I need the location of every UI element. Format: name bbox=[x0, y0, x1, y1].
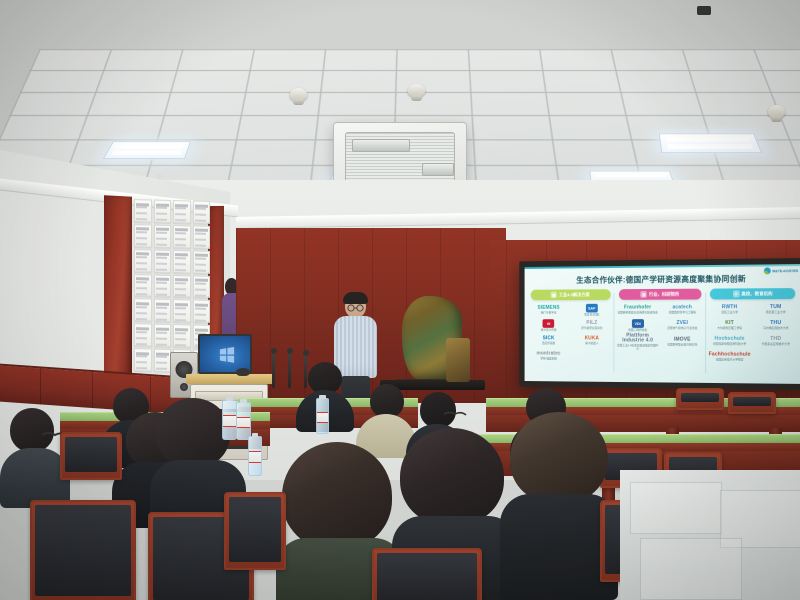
posted-document bbox=[154, 274, 172, 297]
partner-logo: ZVEI德国电气和电子行业协会 bbox=[661, 318, 704, 333]
camera-mount bbox=[697, 6, 711, 15]
column-header-label: 高校、教育机构 bbox=[741, 291, 772, 297]
partner-logo: SAP思爱普(德国) bbox=[571, 303, 613, 318]
head bbox=[282, 442, 392, 550]
factory-icon: ▦ bbox=[551, 292, 557, 299]
column-header-label: 行业、科研院所 bbox=[649, 291, 679, 297]
column-header-research: ▥行业、科研院所 bbox=[619, 289, 701, 300]
posted-document bbox=[173, 275, 191, 298]
head bbox=[370, 384, 404, 418]
posted-document bbox=[193, 275, 211, 298]
surveillance-camera-icon bbox=[672, 8, 698, 30]
water-bottle[interactable] bbox=[222, 400, 237, 440]
microphone[interactable] bbox=[272, 352, 275, 388]
bottle-label bbox=[249, 451, 261, 463]
partner-logo: RWTH亚琛工业大学 bbox=[708, 302, 752, 317]
logo-grid: SIEMENS西门子数字化SAP思爱普(德国)W威卡压力传感PILZ皮尔兹安全自… bbox=[528, 303, 613, 364]
posted-document bbox=[154, 324, 172, 347]
partner-logo-caption: 德国工业4.0标准化推进组织管理中心 bbox=[616, 345, 658, 351]
head bbox=[400, 428, 504, 526]
posted-document bbox=[173, 225, 191, 248]
posted-document bbox=[154, 299, 172, 322]
fluorescent-panel-light bbox=[103, 142, 191, 159]
chair[interactable] bbox=[60, 432, 122, 476]
partner-logo: SICK西克传感器 bbox=[528, 334, 569, 348]
water-bottle[interactable] bbox=[248, 436, 262, 476]
presentation-slide: M&TE-KOSTER 生态合作伙伴:德国产学研资源高度聚集协同创新 ▦工业4.… bbox=[525, 264, 800, 384]
floor bbox=[620, 470, 800, 600]
water-bottle[interactable] bbox=[316, 398, 329, 434]
partner-logo-caption: 思爱普(德国) bbox=[584, 313, 599, 316]
partner-logo-name: Plattform Industrie 4.0 bbox=[616, 334, 658, 344]
posted-document bbox=[134, 323, 152, 346]
head bbox=[156, 398, 230, 468]
posted-document bbox=[193, 300, 211, 323]
partner-logo-caption: 德国工程师协会 bbox=[628, 329, 647, 332]
logo-grid: Fraunhofer德国弗劳恩霍夫应用研究促进协会acatech德国国家科学与工… bbox=[616, 302, 703, 351]
bottle-cap bbox=[252, 433, 259, 437]
slide-column-research: ▥行业、科研院所Fraunhofer德国弗劳恩霍夫应用研究促进协会acatech… bbox=[616, 289, 703, 377]
chair[interactable] bbox=[676, 388, 724, 406]
chair[interactable] bbox=[30, 500, 136, 600]
partner-logo-caption: 德国电气和电子行业协会 bbox=[667, 327, 697, 330]
computer-mouse bbox=[236, 368, 250, 376]
institute-icon: ▥ bbox=[641, 291, 648, 298]
posted-document bbox=[134, 274, 152, 297]
glasses-icon bbox=[345, 304, 366, 312]
posted-document bbox=[154, 349, 172, 372]
presenter-hair bbox=[343, 292, 368, 304]
smoke-detector-icon bbox=[408, 84, 425, 97]
column-header-label: 工业4.0解决方案 bbox=[559, 292, 590, 298]
posted-document bbox=[134, 224, 152, 247]
chair[interactable] bbox=[372, 548, 482, 600]
partner-logo: TUM慕尼黑工业大学 bbox=[754, 302, 799, 317]
partner-logo-caption: 库卡机器人 bbox=[585, 342, 598, 345]
cabinet-top bbox=[186, 374, 274, 384]
partner-logo-badge: SAP bbox=[586, 304, 598, 313]
posted-document bbox=[173, 200, 191, 223]
decorative-vase bbox=[446, 338, 470, 382]
partner-logo: IMOVE德国联邦职业教育研究所 bbox=[661, 334, 704, 351]
partner-logo: W威卡压力传感 bbox=[528, 318, 569, 332]
bottle-label bbox=[223, 415, 236, 427]
posted-document bbox=[134, 298, 152, 321]
posted-document bbox=[173, 324, 191, 347]
partner-logo: KIT卡尔斯鲁厄理工学院 bbox=[708, 318, 752, 333]
slide-accent-bar bbox=[525, 264, 800, 269]
partner-logo-badge: VDI bbox=[632, 319, 644, 328]
partner-logo-caption: 亚琛工业大学 bbox=[721, 311, 738, 314]
posted-document bbox=[134, 199, 152, 222]
partner-logo-caption: 德国弗劳恩霍夫应用研究促进协会 bbox=[618, 311, 658, 314]
partner-logo: PILZ皮尔兹安全自动化 bbox=[571, 318, 613, 332]
partner-logo: VDI德国工程师协会 bbox=[616, 318, 658, 333]
partner-logo: acatech德国国家科学与工程院 bbox=[661, 302, 704, 317]
partner-logo: Hochschule德国埃斯林根应用科技大学 bbox=[708, 334, 752, 349]
posted-document bbox=[173, 299, 191, 322]
column-divider bbox=[614, 293, 615, 372]
partner-logo-caption: 德国埃斯林根应用科技大学 bbox=[713, 343, 746, 346]
partner-logo: Fachhochschule德国应用技术大学联盟 bbox=[708, 350, 752, 365]
bottle-cap bbox=[240, 399, 247, 403]
ceiling-grid-line bbox=[39, 49, 800, 50]
logo-grid: RWTH亚琛工业大学TUM慕尼黑工业大学KIT卡尔斯鲁厄理工学院THU乌尔姆应用… bbox=[708, 302, 798, 365]
partner-logo-badge: W bbox=[543, 319, 555, 328]
slide-columns: ▦工业4.0解决方案SIEMENS西门子数字化SAP思爱普(德国)W威卡压力传感… bbox=[528, 288, 798, 378]
partner-logo: Plattform Industrie 4.0德国工业4.0标准化推进组织管理中… bbox=[616, 334, 658, 351]
ceiling-grid-line bbox=[9, 115, 800, 116]
partner-logo: montratec蒙特 输送系统 bbox=[528, 349, 569, 364]
column-divider bbox=[705, 293, 706, 374]
posted-document bbox=[154, 224, 172, 247]
ceiling-grid-line bbox=[30, 70, 800, 71]
windows-logo-icon bbox=[217, 347, 237, 363]
graduation-icon: ✦ bbox=[733, 290, 740, 297]
smoke-detector-icon bbox=[290, 88, 307, 101]
bottle-cap bbox=[319, 395, 325, 399]
microphone[interactable] bbox=[288, 352, 291, 388]
partner-logo-caption: 卡尔斯鲁厄理工学院 bbox=[717, 327, 742, 330]
partner-logo-caption: 德国联邦职业教育研究所 bbox=[667, 344, 697, 347]
speaker-tweeter bbox=[180, 383, 188, 391]
wood-column bbox=[104, 195, 132, 376]
column-header-industry: ▦工业4.0解决方案 bbox=[531, 289, 611, 300]
monitor-screen bbox=[200, 336, 250, 372]
head bbox=[510, 412, 608, 504]
slide-column-industry: ▦工业4.0解决方案SIEMENS西门子数字化SAP思爱普(德国)W威卡压力传感… bbox=[528, 289, 613, 376]
partner-logo: Fraunhofer德国弗劳恩霍夫应用研究促进协会 bbox=[616, 303, 658, 318]
bottle-label bbox=[237, 417, 250, 428]
slide-title: 生态合作伙伴:德国产学研资源高度聚集协同创新 bbox=[525, 272, 800, 286]
partner-logo-caption: 西克传感器 bbox=[542, 342, 555, 345]
bottle-label bbox=[317, 412, 328, 423]
lecture-hall-photo: M&TE-KOSTER 生态合作伙伴:德国产学研资源高度聚集协同创新 ▦工业4.… bbox=[0, 0, 800, 600]
partner-logo-caption: 蒙特 输送系统 bbox=[540, 357, 556, 360]
partner-logo-caption: 乌尔姆应用技术大学 bbox=[763, 327, 788, 330]
column-header-education: ✦高校、教育机构 bbox=[710, 288, 795, 299]
projection-screen[interactable]: M&TE-KOSTER 生态合作伙伴:德国产学研资源高度聚集协同创新 ▦工业4.… bbox=[519, 258, 800, 390]
posted-document bbox=[193, 225, 211, 248]
chair[interactable] bbox=[728, 392, 776, 410]
partner-logo-caption: 德国国家科学与工程院 bbox=[669, 311, 696, 314]
partner-logo: SIEMENS西门子数字化 bbox=[528, 303, 569, 317]
chair[interactable] bbox=[224, 492, 286, 566]
partner-logo: KUKA库卡机器人 bbox=[571, 334, 613, 349]
partner-logo-caption: 威卡压力传感 bbox=[541, 329, 557, 332]
fluorescent-panel-light bbox=[659, 134, 762, 153]
posted-document bbox=[193, 250, 211, 273]
partner-logo-caption: 代根多夫应用技术大学 bbox=[762, 343, 790, 346]
partner-logo-caption: 德国应用技术大学联盟 bbox=[716, 359, 744, 362]
posted-document bbox=[193, 201, 211, 224]
water-bottle[interactable] bbox=[236, 402, 251, 440]
posted-document bbox=[154, 200, 172, 223]
posted-document bbox=[173, 250, 191, 273]
posted-document bbox=[154, 249, 172, 272]
partner-logo-caption: 西门子数字化 bbox=[541, 312, 557, 315]
partner-logo: THU乌尔姆应用技术大学 bbox=[754, 318, 799, 333]
smoke-detector-icon bbox=[768, 105, 785, 118]
partner-logo-caption: 慕尼黑工业大学 bbox=[766, 311, 786, 314]
bottle-cap bbox=[226, 397, 233, 401]
posted-document bbox=[134, 249, 152, 272]
slide-column-education: ✦高校、教育机构RWTH亚琛工业大学TUM慕尼黑工业大学KIT卡尔斯鲁厄理工学院… bbox=[708, 288, 798, 378]
glasses-icon bbox=[442, 410, 468, 420]
partner-logo: THD代根多夫应用技术大学 bbox=[754, 334, 799, 349]
partner-logo-caption: 皮尔兹安全自动化 bbox=[581, 327, 602, 330]
posted-document bbox=[134, 348, 152, 371]
